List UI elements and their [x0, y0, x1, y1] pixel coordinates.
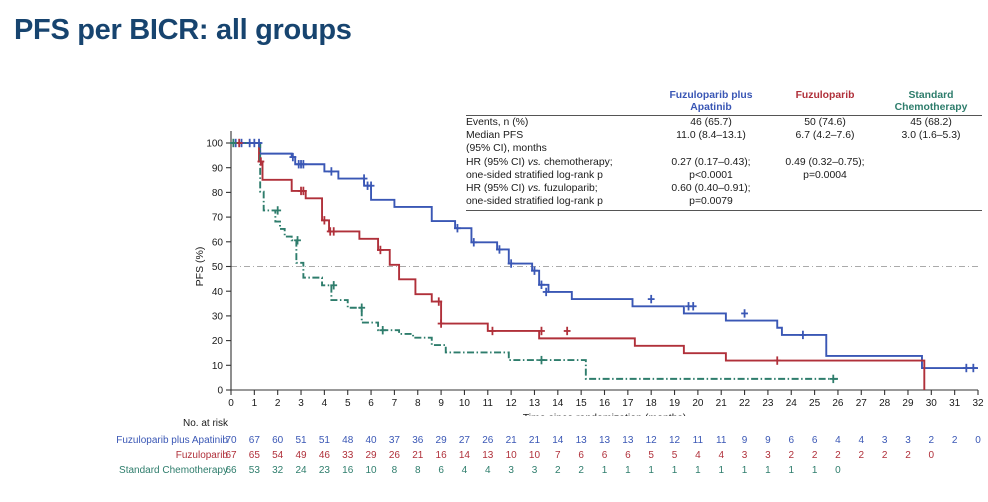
risk-value: 13 — [476, 450, 500, 461]
risk-value: 2 — [896, 450, 920, 461]
risk-value: 60 — [266, 435, 290, 446]
svg-text:4: 4 — [322, 398, 328, 409]
risk-value: 1 — [616, 465, 640, 476]
svg-text:22: 22 — [739, 398, 751, 409]
risk-value: 4 — [849, 435, 873, 446]
censor-mark — [368, 182, 375, 190]
risk-value: 6 — [569, 450, 593, 461]
risk-value: 6 — [429, 465, 453, 476]
risk-value: 32 — [266, 465, 290, 476]
svg-text:5: 5 — [345, 398, 351, 409]
risk-value: 6 — [593, 450, 617, 461]
censor-marks — [230, 139, 977, 383]
svg-text:11: 11 — [483, 398, 494, 409]
risk-value: 40 — [359, 435, 383, 446]
risk-value: 26 — [476, 435, 500, 446]
risk-value: 3 — [756, 450, 780, 461]
risk-value: 2 — [943, 435, 967, 446]
svg-text:20: 20 — [692, 398, 704, 409]
risk-value: 13 — [616, 435, 640, 446]
censor-mark — [294, 236, 301, 244]
risk-value: 9 — [756, 435, 780, 446]
censor-mark — [438, 319, 445, 327]
svg-text:32: 32 — [972, 398, 984, 409]
risk-value: 23 — [312, 465, 336, 476]
censor-mark — [800, 331, 807, 339]
censor-mark — [970, 364, 977, 372]
risk-value: 1 — [663, 465, 687, 476]
risk-value: 12 — [639, 435, 663, 446]
svg-text:26: 26 — [832, 398, 844, 409]
risk-value: 4 — [686, 450, 710, 461]
risk-value: 26 — [382, 450, 406, 461]
svg-text:80: 80 — [212, 188, 224, 199]
svg-text:90: 90 — [212, 163, 224, 174]
page-title: PFS per BICR: all groups — [14, 14, 352, 47]
svg-text:8: 8 — [415, 398, 421, 409]
risk-value: 1 — [709, 465, 733, 476]
censor-mark — [564, 327, 571, 335]
risk-value: 1 — [639, 465, 663, 476]
risk-value: 66 — [219, 465, 243, 476]
svg-text:20: 20 — [212, 336, 224, 347]
risk-value: 1 — [803, 465, 827, 476]
svg-text:40: 40 — [212, 287, 224, 298]
risk-value: 5 — [639, 450, 663, 461]
svg-text:17: 17 — [622, 398, 634, 409]
risk-value: 3 — [499, 465, 523, 476]
risk-value: 10 — [359, 465, 383, 476]
svg-text:13: 13 — [529, 398, 541, 409]
svg-text:18: 18 — [646, 398, 658, 409]
svg-text:6: 6 — [368, 398, 374, 409]
svg-text:2: 2 — [275, 398, 281, 409]
risk-value: 2 — [779, 450, 803, 461]
censor-mark — [648, 295, 655, 303]
svg-text:29: 29 — [902, 398, 914, 409]
risk-value: 1 — [593, 465, 617, 476]
risk-value: 67 — [242, 435, 266, 446]
number-at-risk-table: No. at risk Fuzuloparib plus Apatinib Fu… — [0, 416, 988, 502]
risk-value: 6 — [803, 435, 827, 446]
risk-value: 2 — [569, 465, 593, 476]
risk-value: 27 — [452, 435, 476, 446]
risk-value: 21 — [406, 450, 430, 461]
risk-value: 4 — [452, 465, 476, 476]
risk-value: 2 — [873, 450, 897, 461]
risk-value: 24 — [289, 465, 313, 476]
svg-text:24: 24 — [786, 398, 798, 409]
risk-value: 46 — [312, 450, 336, 461]
risk-value: 13 — [569, 435, 593, 446]
risk-value: 70 — [219, 435, 243, 446]
svg-text:27: 27 — [856, 398, 868, 409]
risk-value: 7 — [546, 450, 570, 461]
risk-value: 11 — [709, 435, 733, 446]
risk-value: 1 — [733, 465, 757, 476]
svg-text:23: 23 — [762, 398, 774, 409]
censor-mark — [489, 327, 496, 335]
svg-text:30: 30 — [212, 312, 224, 323]
risk-value: 8 — [382, 465, 406, 476]
censor-mark — [774, 356, 781, 364]
risk-table-values: 7067605151484037362927262121141313131212… — [0, 416, 988, 502]
risk-value: 8 — [406, 465, 430, 476]
risk-value: 21 — [499, 435, 523, 446]
risk-value: 48 — [336, 435, 360, 446]
svg-text:12: 12 — [506, 398, 518, 409]
risk-value: 1 — [756, 465, 780, 476]
risk-value: 10 — [522, 450, 546, 461]
censor-mark — [741, 309, 748, 317]
svg-text:0: 0 — [228, 398, 234, 409]
risk-value: 13 — [593, 435, 617, 446]
risk-value: 2 — [803, 450, 827, 461]
risk-value: 21 — [522, 435, 546, 446]
censor-mark — [256, 139, 263, 147]
risk-value: 4 — [476, 465, 500, 476]
censor-mark — [963, 364, 970, 372]
risk-value: 29 — [359, 450, 383, 461]
svg-text:7: 7 — [392, 398, 398, 409]
svg-text:60: 60 — [212, 237, 224, 248]
censor-mark — [690, 302, 697, 310]
svg-text:9: 9 — [438, 398, 444, 409]
risk-value: 4 — [826, 435, 850, 446]
risk-value: 6 — [616, 450, 640, 461]
risk-value: 16 — [429, 450, 453, 461]
risk-value: 37 — [382, 435, 406, 446]
censor-mark — [361, 174, 368, 182]
svg-text:0: 0 — [217, 386, 223, 397]
svg-text:25: 25 — [809, 398, 821, 409]
svg-text:70: 70 — [212, 213, 224, 224]
censor-mark — [379, 326, 386, 334]
x-axis-tick-labels: 0123456789101112131415161718192021222324… — [228, 398, 984, 409]
svg-text:28: 28 — [879, 398, 891, 409]
svg-text:10: 10 — [212, 361, 224, 372]
risk-value: 10 — [499, 450, 523, 461]
risk-value: 49 — [289, 450, 313, 461]
risk-value: 1 — [686, 465, 710, 476]
risk-value: 3 — [522, 465, 546, 476]
risk-value: 33 — [336, 450, 360, 461]
risk-value: 29 — [429, 435, 453, 446]
svg-text:1: 1 — [252, 398, 258, 409]
risk-value: 6 — [779, 435, 803, 446]
svg-text:14: 14 — [552, 398, 564, 409]
svg-text:100: 100 — [206, 139, 223, 150]
survival-curve-arm-c — [231, 143, 838, 379]
risk-value: 65 — [242, 450, 266, 461]
y-axis-label: PFS (%) — [194, 247, 206, 287]
risk-value: 2 — [919, 435, 943, 446]
risk-value: 11 — [686, 435, 710, 446]
risk-value: 0 — [826, 465, 850, 476]
risk-value: 36 — [406, 435, 430, 446]
censor-mark — [330, 227, 337, 235]
svg-text:16: 16 — [599, 398, 611, 409]
risk-value: 54 — [266, 450, 290, 461]
censor-mark — [358, 304, 365, 312]
risk-value: 9 — [733, 435, 757, 446]
risk-value: 2 — [826, 450, 850, 461]
risk-value: 5 — [663, 450, 687, 461]
risk-value: 0 — [919, 450, 943, 461]
risk-value: 51 — [312, 435, 336, 446]
survival-curve-arm-a — [231, 143, 978, 368]
svg-text:30: 30 — [926, 398, 938, 409]
risk-value: 0 — [966, 435, 988, 446]
risk-value: 16 — [336, 465, 360, 476]
svg-text:50: 50 — [212, 262, 224, 273]
risk-value: 4 — [709, 450, 733, 461]
km-plot-svg: 0102030405060708090100 01234567891011121… — [0, 86, 988, 416]
risk-value: 14 — [546, 435, 570, 446]
censor-mark — [538, 356, 545, 364]
svg-text:31: 31 — [949, 398, 961, 409]
censor-mark — [328, 167, 335, 175]
risk-value: 2 — [849, 450, 873, 461]
risk-value: 2 — [546, 465, 570, 476]
risk-value: 3 — [873, 435, 897, 446]
km-plot-container: 0102030405060708090100 01234567891011121… — [0, 86, 988, 416]
risk-value: 67 — [219, 450, 243, 461]
risk-value: 53 — [242, 465, 266, 476]
risk-value: 3 — [733, 450, 757, 461]
censor-mark — [830, 375, 837, 383]
svg-text:10: 10 — [459, 398, 471, 409]
risk-value: 1 — [779, 465, 803, 476]
y-axis-tick-labels: 0102030405060708090100 — [206, 139, 223, 397]
risk-value: 14 — [452, 450, 476, 461]
risk-value: 3 — [896, 435, 920, 446]
risk-value: 12 — [663, 435, 687, 446]
svg-text:19: 19 — [669, 398, 681, 409]
svg-text:21: 21 — [716, 398, 728, 409]
svg-text:15: 15 — [576, 398, 588, 409]
svg-text:3: 3 — [298, 398, 304, 409]
risk-value: 51 — [289, 435, 313, 446]
